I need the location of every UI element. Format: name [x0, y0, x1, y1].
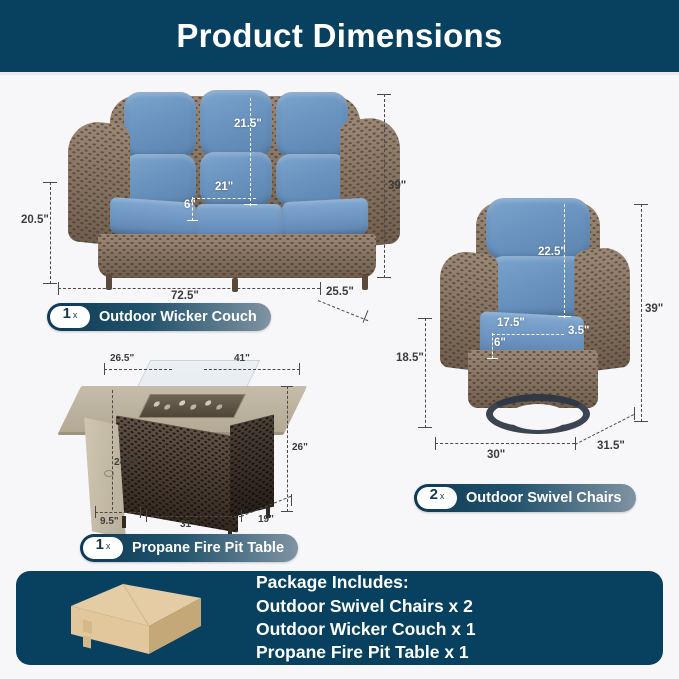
chair-armrest-width-label: 3.5"	[568, 325, 589, 337]
package-item: Outdoor Swivel Chairs x 2	[256, 595, 476, 618]
package-includes-banner: Package Includes: Outdoor Swivel Chairs …	[16, 571, 663, 665]
couch-quantity-number: 1	[63, 306, 71, 321]
package-item: Propane Fire Pit Table x 1	[256, 641, 476, 664]
firepit-label-text: Propane Fire Pit Table	[132, 540, 284, 556]
firepit-base-depth-label: 19"	[258, 514, 274, 525]
chair-back-cushion-height-label: 22.5"	[538, 246, 566, 258]
chair-overall-width-label: 30"	[487, 449, 505, 461]
firepit-quantity-multiplier: x	[106, 541, 111, 551]
cardboard-box-icon	[61, 580, 211, 656]
couch-seat-thickness-label: 6"	[184, 199, 196, 211]
couch-back-cushion-height-label: 21.5"	[234, 118, 262, 130]
chair-label-pill: 2 x Outdoor Swivel Chairs	[414, 484, 636, 512]
firepit-panel-height-dimline	[112, 390, 113, 510]
package-includes-heading: Package Includes:	[256, 571, 476, 594]
couch-seat-height-dimline	[50, 182, 51, 284]
firepit-top-width-label: 41"	[234, 353, 250, 364]
package-includes-text: Package Includes: Outdoor Swivel Chairs …	[256, 571, 476, 664]
couch-overall-height-dimline	[384, 94, 385, 278]
chair-label-text: Outdoor Swivel Chairs	[466, 490, 622, 506]
package-box-wrap	[16, 580, 256, 656]
chair-seat-thickness-dimline	[492, 333, 493, 359]
chair-seat-height-dimline	[425, 318, 426, 428]
couch-overall-height-label: 39"	[388, 180, 406, 192]
couch-quantity-badge: 1 x	[50, 306, 90, 328]
chair-seat-depth-label: 17.5"	[497, 317, 525, 329]
couch-label-text: Outdoor Wicker Couch	[99, 309, 257, 325]
header-divider	[0, 72, 679, 75]
chair-seat-thickness-label: 6"	[494, 337, 506, 349]
couch-quantity-multiplier: x	[73, 310, 78, 320]
firepit-base-width-label: 31"	[180, 519, 196, 530]
chair-quantity-number: 2	[430, 487, 438, 502]
couch-back-cushion-dimline	[250, 98, 251, 206]
chair-seat-depth-dimline	[492, 334, 564, 335]
chair-overall-height-label: 39"	[645, 303, 663, 315]
firepit-overall-height-label: 26"	[292, 442, 308, 453]
package-item: Outdoor Wicker Couch x 1	[256, 618, 476, 641]
firepit-label-pill: 1 x Propane Fire Pit Table	[80, 534, 298, 562]
chair-back-cushion-dimline	[564, 204, 565, 318]
chair-overall-height-dimline	[641, 204, 642, 422]
couch-label-pill: 1 x Outdoor Wicker Couch	[47, 303, 271, 331]
chair-overall-width-dimline	[435, 443, 575, 444]
chair-seat-height-label: 18.5"	[396, 352, 424, 364]
firepit-quantity-number: 1	[96, 537, 104, 552]
couch-overall-depth-dimline	[318, 300, 368, 321]
chair-illustration	[434, 198, 634, 460]
couch-overall-depth-label: 25.5"	[326, 286, 354, 298]
chair-overall-depth-label: 31.5"	[597, 440, 625, 452]
couch-seat-height-label: 20.5"	[21, 214, 49, 226]
product-dimensions-infographic: Product Dimensions	[0, 0, 679, 679]
firepit-panel-height-label: 24.5"	[114, 457, 138, 468]
firepit-illustration	[70, 360, 310, 520]
couch-overall-width-label: 72.5"	[171, 290, 199, 302]
chair-quantity-multiplier: x	[440, 491, 445, 501]
header-banner: Product Dimensions	[0, 0, 679, 72]
firepit-quantity-badge: 1 x	[83, 537, 123, 559]
firepit-overall-height-dimline	[287, 386, 288, 512]
firepit-top-width-dimline	[204, 369, 300, 370]
firepit-top-depth-label: 26.5"	[110, 353, 134, 364]
firepit-panel-width-dimline	[95, 512, 141, 513]
couch-seat-depth-label: 21"	[215, 181, 233, 193]
page-title: Product Dimensions	[176, 17, 502, 55]
firepit-top-depth-dimline	[104, 369, 172, 370]
couch-overall-width-dimline	[58, 288, 320, 289]
couch-seat-depth-dimline	[192, 198, 256, 199]
firepit-panel-width-label: 9.5"	[100, 516, 119, 527]
chair-quantity-badge: 2 x	[417, 487, 457, 509]
firepit-base-width-dimline	[146, 516, 242, 517]
